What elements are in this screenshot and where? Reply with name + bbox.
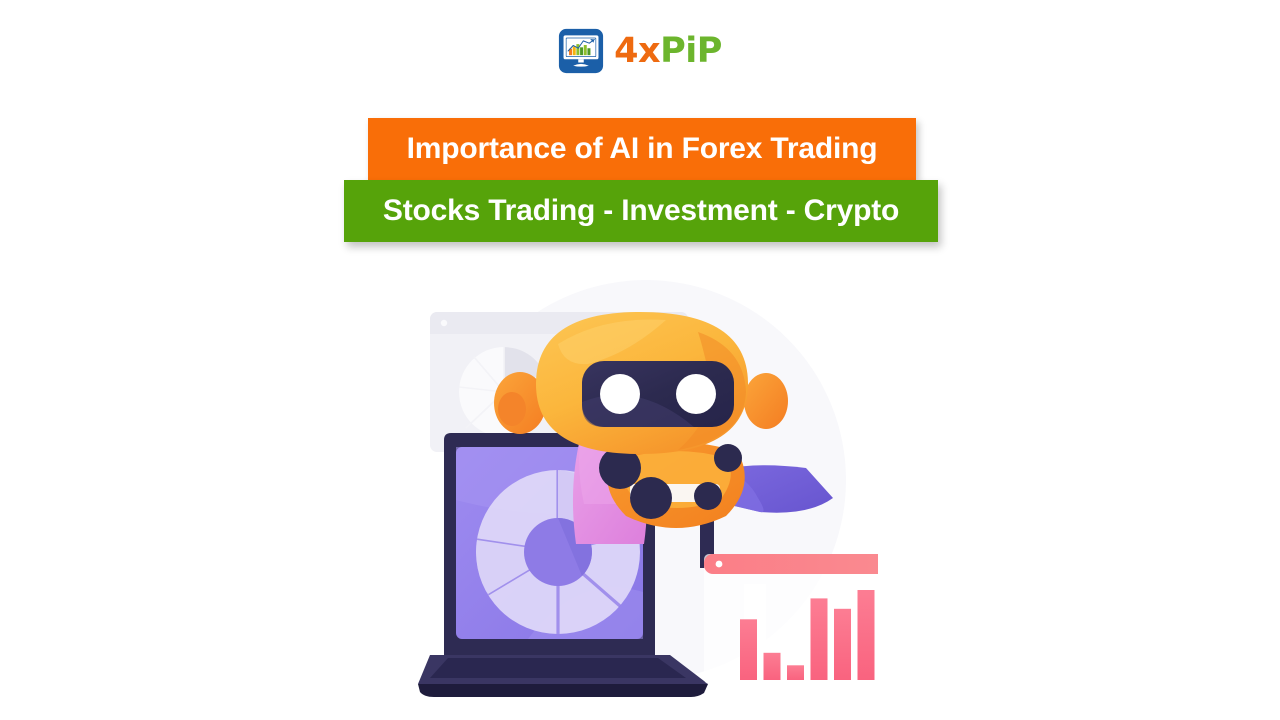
bar-4 xyxy=(811,598,828,680)
robot-eye-right xyxy=(676,374,716,414)
primary-title-banner: Importance of AI in Forex Trading xyxy=(368,118,916,180)
bar-6 xyxy=(858,590,875,680)
robot-joint-lower-left xyxy=(630,477,672,519)
bar-1 xyxy=(740,619,757,680)
brand-wordmark: 4xPiP xyxy=(614,34,722,69)
title-banner-group: Importance of AI in Forex Trading Stocks… xyxy=(0,118,1280,250)
brand-word-pip: PiP xyxy=(660,34,722,69)
bar-panel-header xyxy=(704,554,878,574)
robot-ear-left-inner xyxy=(498,392,526,426)
robot-ear-right xyxy=(744,373,788,429)
monitor-chart-icon xyxy=(558,28,604,74)
robot-joint-lower-right xyxy=(694,482,722,510)
ai-trading-illustration xyxy=(408,272,878,698)
secondary-title-banner: Stocks Trading - Investment - Crypto xyxy=(344,180,938,242)
bar-chart-panel xyxy=(704,554,878,684)
brand-word-4x: 4x xyxy=(614,34,660,69)
robot-eye-left xyxy=(600,374,640,414)
robot-joint-upper-right xyxy=(714,444,742,472)
bar-5 xyxy=(834,609,851,680)
bar-panel-dot xyxy=(716,561,723,568)
brand-logo[interactable]: 4xPiP xyxy=(0,22,1280,80)
bar-3 xyxy=(787,665,804,680)
bar-2 xyxy=(764,653,781,680)
page-root: 4xPiP Importance of AI in Forex Trading … xyxy=(0,0,1280,720)
